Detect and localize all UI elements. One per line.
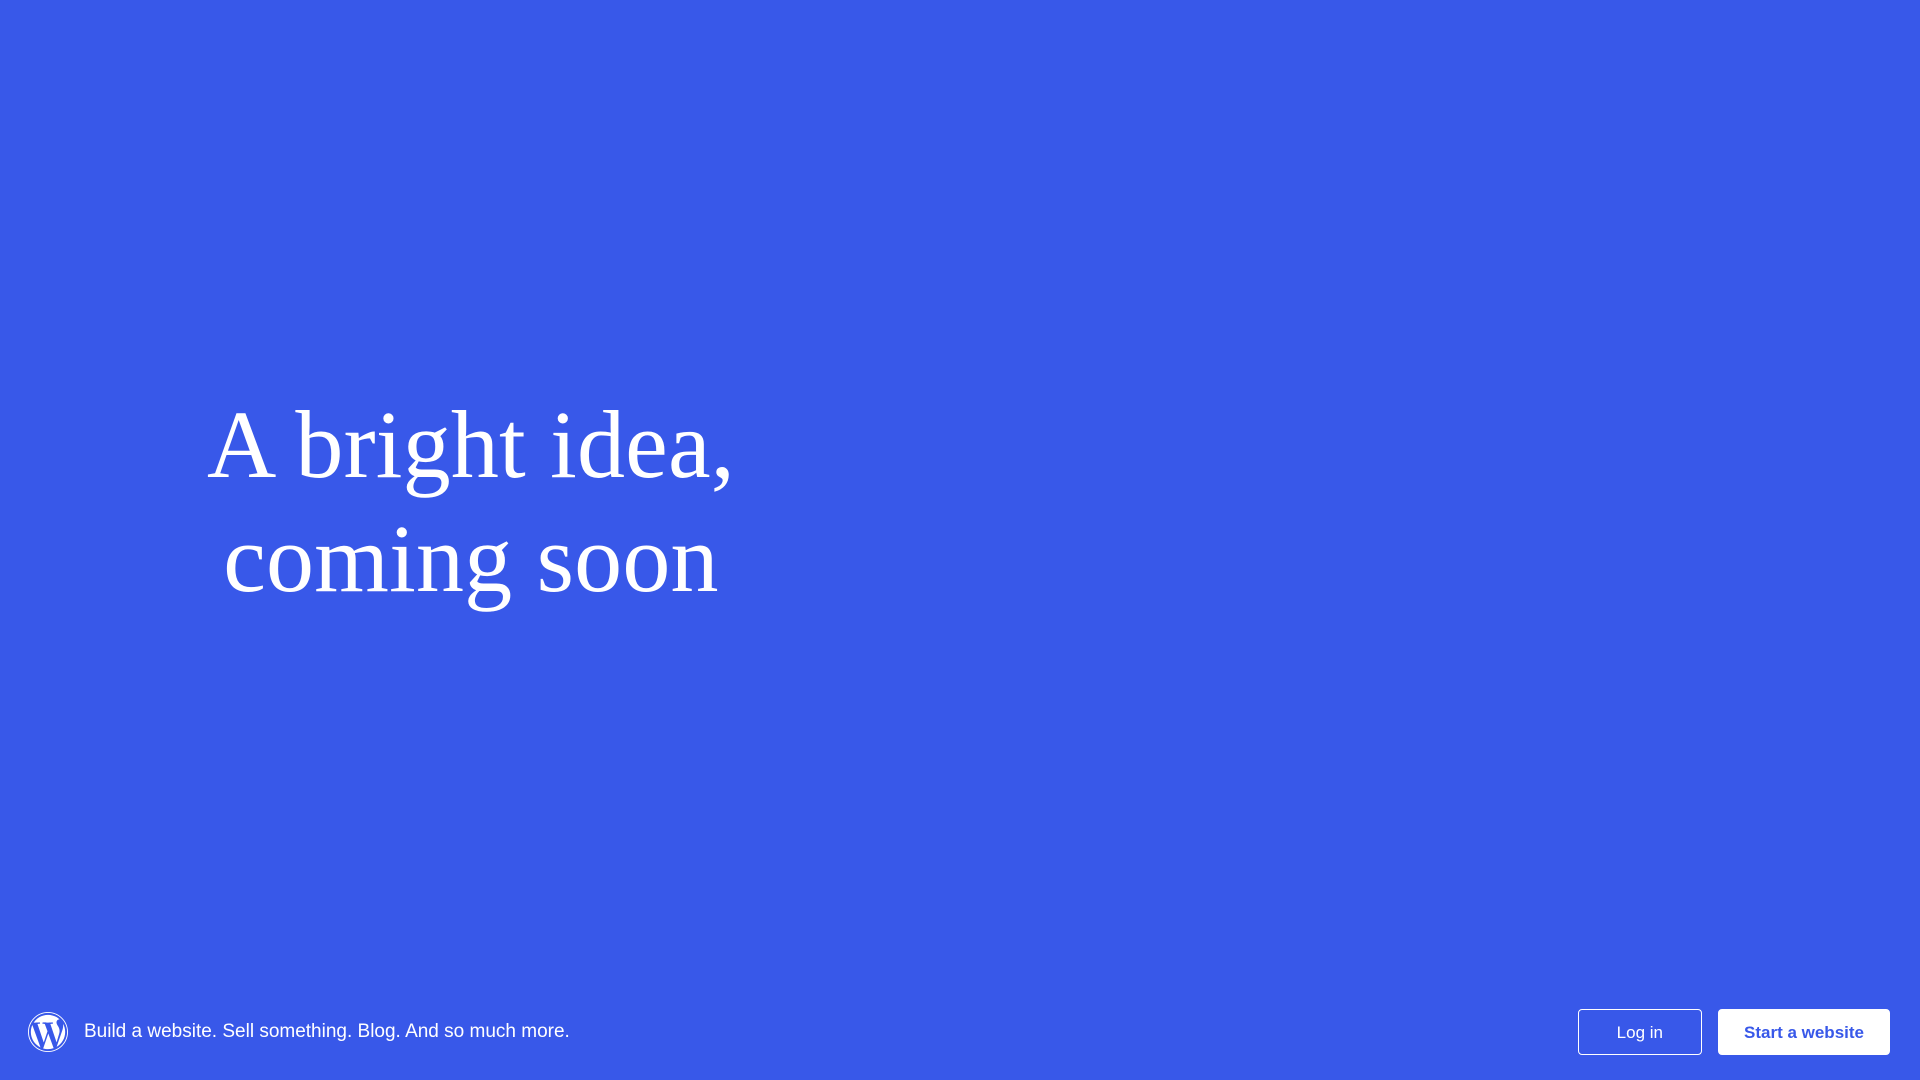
- footer-branding: Build a website. Sell something. Blog. A…: [28, 1012, 1578, 1052]
- wordpress-logo-icon[interactable]: [28, 1012, 68, 1052]
- footer-actions: Log in Start a website: [1578, 1009, 1890, 1055]
- page-headline: A bright idea, coming soon: [0, 388, 942, 616]
- footer-bar: Build a website. Sell something. Blog. A…: [0, 984, 1920, 1080]
- start-a-website-button[interactable]: Start a website: [1718, 1009, 1890, 1055]
- coming-soon-page: A bright idea, coming soon Build a websi…: [0, 0, 1920, 1080]
- log-in-button[interactable]: Log in: [1578, 1009, 1702, 1055]
- headline-container: A bright idea, coming soon: [0, 388, 942, 616]
- footer-tagline: Build a website. Sell something. Blog. A…: [84, 1020, 570, 1044]
